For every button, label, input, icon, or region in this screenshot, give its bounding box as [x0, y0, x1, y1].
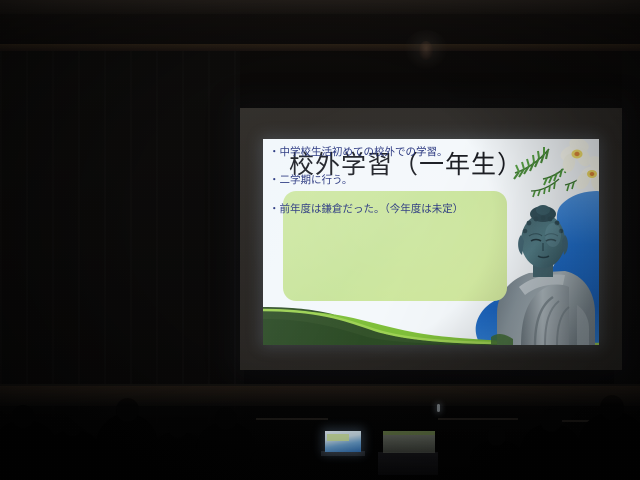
- stage-floor-edge: [0, 386, 640, 404]
- slide-bullet-3: ・前年度は鎌倉だった。（今年度は未定）: [269, 203, 497, 216]
- presenter-laptop-screen: [325, 431, 361, 452]
- slide-bullet-1: ・中学校生活初めての校外での学習。: [269, 146, 497, 159]
- auditorium-photo: 校外学習（一年生） ・中学校生活初めての校外での学習。 ・二学期に行う。 ・前年…: [0, 0, 640, 480]
- slide-bullet-list: ・中学校生活初めての校外での学習。 ・二学期に行う。 ・前年度は鎌倉だった。（今…: [269, 146, 597, 216]
- ceiling-beam-lower: [0, 44, 640, 51]
- ceiling-beam-upper: [0, 0, 640, 14]
- slide-bullet-2: ・二学期に行う。: [269, 174, 497, 187]
- podium: [378, 452, 438, 475]
- indicator-light: [437, 404, 440, 412]
- projection-screen-frame: 校外学習（一年生） ・中学校生活初めての校外での学習。 ・二学期に行う。 ・前年…: [240, 108, 622, 370]
- lectern-box: [383, 431, 435, 453]
- school-crest-emblem-icon: [404, 30, 448, 70]
- presentation-slide: 校外学習（一年生） ・中学校生活初めての校外での学習。 ・二学期に行う。 ・前年…: [263, 139, 599, 345]
- ceiling-panel: [0, 14, 640, 44]
